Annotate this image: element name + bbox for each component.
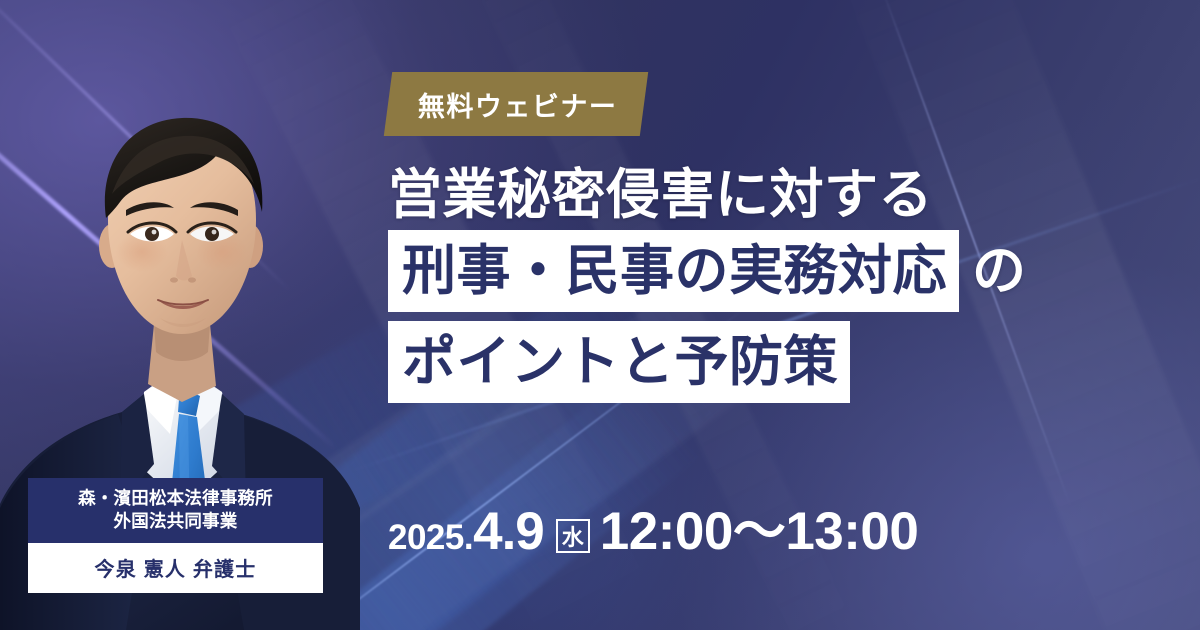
firm-name-line-2: 外国法共同事業 — [36, 510, 315, 533]
headline: 営業秘密侵害に対する 刑事・民事の実務対応 の ポイントと予防策 — [388, 168, 1200, 403]
speaker-nameplate: 森・濱田松本法律事務所 外国法共同事業 今泉 憲人 弁護士 — [28, 478, 323, 593]
schedule-year: 2025. — [388, 518, 473, 558]
headline-line-1: 営業秘密侵害に対する — [388, 168, 1200, 222]
schedule: 2025. 4.9 水 12:00〜13:00 — [388, 505, 918, 558]
schedule-month-day: 4.9 — [473, 505, 544, 558]
headline-line-2-highlight: 刑事・民事の実務対応 — [388, 230, 959, 312]
speaker-name-block: 今泉 憲人 弁護士 — [28, 543, 323, 593]
webinar-banner: 森・濱田松本法律事務所 外国法共同事業 今泉 憲人 弁護士 無料ウェビナー 営業… — [0, 0, 1200, 630]
headline-line-3: ポイントと予防策 — [388, 321, 1200, 403]
headline-line-1-text: 営業秘密侵害に対する — [388, 168, 933, 222]
speaker-name-title: 今泉 憲人 弁護士 — [95, 553, 257, 582]
schedule-time: 12:00〜13:00 — [600, 505, 919, 558]
firm-block: 森・濱田松本法律事務所 外国法共同事業 — [28, 478, 323, 543]
schedule-day-of-week: 水 — [556, 519, 590, 553]
headline-line-3-highlight: ポイントと予防策 — [388, 321, 850, 403]
banner-content: 無料ウェビナー 営業秘密侵害に対する 刑事・民事の実務対応 の ポイントと予防策… — [388, 0, 1200, 630]
firm-name-line-1: 森・濱田松本法律事務所 — [36, 487, 315, 510]
free-webinar-badge: 無料ウェビナー — [384, 72, 648, 136]
free-webinar-badge-label: 無料ウェビナー — [418, 85, 618, 124]
headline-line-2: 刑事・民事の実務対応 の — [388, 230, 1200, 312]
headline-line-2-tail: の — [959, 244, 1026, 298]
